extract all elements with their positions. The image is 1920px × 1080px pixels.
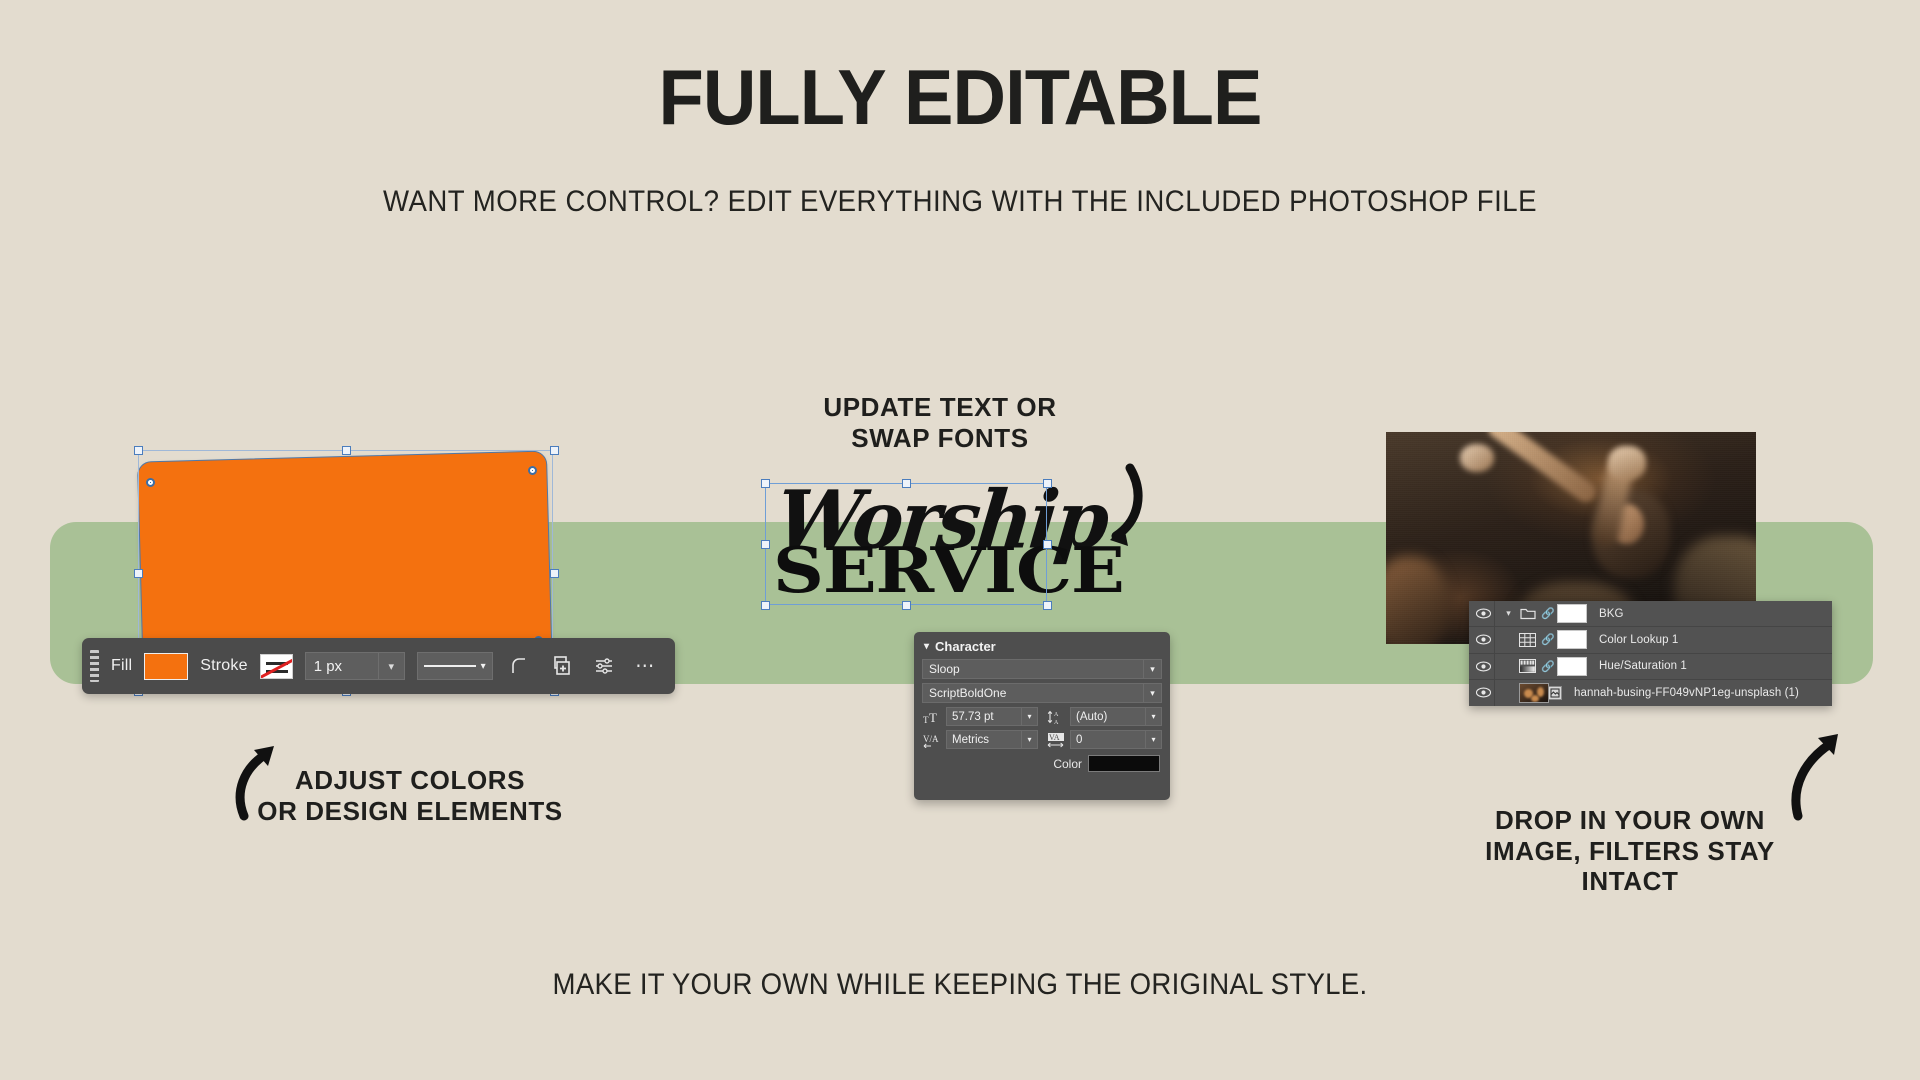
tracking-icon: VA xyxy=(1046,731,1066,749)
font-size-input[interactable]: 57.73 pt ▾ xyxy=(946,707,1038,726)
chevron-down-icon[interactable]: ▾ xyxy=(1145,731,1161,748)
text-artwork-stage: Worship SERVICE xyxy=(765,483,1055,613)
arrow-to-text-artwork xyxy=(1058,462,1148,572)
stroke-color-swatch-none[interactable] xyxy=(260,654,293,679)
callout-update-text-line1: UPDATE TEXT OR xyxy=(760,392,1120,423)
text-resize-handle-bottom-left[interactable] xyxy=(761,601,770,610)
toolbar-drag-handle[interactable] xyxy=(90,650,99,682)
page-subtitle: WANT MORE CONTROL? EDIT EVERYTHING WITH … xyxy=(77,185,1843,219)
svg-text:A: A xyxy=(1054,720,1059,725)
callout-drop-image-line1: DROP IN YOUR OWN xyxy=(1420,805,1840,836)
fill-label: Fill xyxy=(111,657,132,675)
layer-link-icon[interactable]: 🔗 xyxy=(1541,607,1552,620)
arrow-to-photo-image xyxy=(1780,728,1866,824)
solid-line-icon xyxy=(424,665,476,667)
combine-shapes-icon[interactable] xyxy=(547,651,577,681)
stroke-label: Stroke xyxy=(200,657,247,675)
text-resize-handle-top-left[interactable] xyxy=(761,479,770,488)
resize-handle-middle-left[interactable] xyxy=(134,569,143,578)
svg-text:A: A xyxy=(1054,712,1059,718)
kerning-cell: V/A Metrics ▾ xyxy=(922,730,1038,749)
callout-update-text-line2: SWAP FONTS xyxy=(760,423,1120,454)
font-size-icon: T T xyxy=(922,708,942,726)
stroke-width-input[interactable]: 1 px ▾ xyxy=(305,652,405,680)
smart-object-badge-icon xyxy=(1548,686,1562,700)
layer-row-color-lookup[interactable]: 🔗 Color Lookup 1 xyxy=(1469,627,1832,653)
text-resize-handle-top-center[interactable] xyxy=(902,479,911,488)
callout-drop-image-line2: IMAGE, FILTERS STAY xyxy=(1420,836,1840,867)
layer-visibility-eye-icon[interactable] xyxy=(1473,627,1495,652)
character-panel-title: Character xyxy=(935,639,996,654)
character-kerning-tracking-row: V/A Metrics ▾ VA 0 ▾ xyxy=(922,730,1162,749)
resize-handle-middle-right[interactable] xyxy=(550,569,559,578)
layer-name: Hue/Saturation 1 xyxy=(1599,660,1687,672)
kerning-icon: V/A xyxy=(922,731,942,749)
shape-settings-icon[interactable] xyxy=(589,651,619,681)
layer-visibility-eye-icon[interactable] xyxy=(1473,680,1495,706)
layer-row-hue-saturation[interactable]: 🔗 Hue/Saturation 1 xyxy=(1469,654,1832,680)
layer-name: Color Lookup 1 xyxy=(1599,634,1678,646)
svg-text:T: T xyxy=(929,710,937,725)
stroke-style-dropdown[interactable]: ▾ xyxy=(417,652,493,680)
text-resize-handle-bottom-center[interactable] xyxy=(902,601,911,610)
corner-radius-icon[interactable] xyxy=(505,651,535,681)
character-color-row: Color xyxy=(922,755,1162,772)
hue-saturation-icon xyxy=(1519,659,1536,674)
layer-visibility-eye-icon[interactable] xyxy=(1473,654,1495,679)
stroke-width-value: 1 px xyxy=(314,658,342,675)
kerning-value: Metrics xyxy=(952,734,989,746)
shape-properties-toolbar[interactable]: Fill Stroke 1 px ▾ ▾ ⋯ xyxy=(82,638,675,694)
callout-drop-image-line3: INTACT xyxy=(1420,866,1840,897)
chevron-down-icon[interactable]: ▾ xyxy=(481,661,486,672)
page-title: FULLY EDITABLE xyxy=(48,52,1872,143)
text-color-swatch[interactable] xyxy=(1088,755,1160,772)
tracking-cell: VA 0 ▾ xyxy=(1046,730,1162,749)
layer-row-smart-object[interactable]: hannah-busing-FF049vNP1eg-unsplash (1) xyxy=(1469,680,1832,706)
text-selection-bounds xyxy=(765,483,1047,605)
leading-cell: A A (Auto) ▾ xyxy=(1046,707,1162,726)
leading-input[interactable]: (Auto) ▾ xyxy=(1070,707,1162,726)
more-options-icon[interactable]: ⋯ xyxy=(631,651,661,681)
color-label: Color xyxy=(1053,757,1082,771)
group-disclosure-chevron-icon[interactable]: ▾ xyxy=(1503,608,1514,619)
callout-update-text: UPDATE TEXT OR SWAP FONTS xyxy=(760,392,1120,453)
page-footer-text: MAKE IT YOUR OWN WHILE KEEPING THE ORIGI… xyxy=(77,968,1843,1002)
chevron-down-icon[interactable]: ▾ xyxy=(1021,708,1037,725)
fill-color-swatch[interactable] xyxy=(144,653,188,680)
resize-handle-top-left[interactable] xyxy=(134,446,143,455)
chevron-down-icon[interactable]: ▾ xyxy=(378,653,404,679)
svg-text:V/A: V/A xyxy=(923,734,939,744)
arrow-to-orange-shape xyxy=(222,738,302,828)
layer-link-icon[interactable]: 🔗 xyxy=(1541,660,1552,673)
font-family-select[interactable]: Sloop ▾ xyxy=(922,659,1162,679)
text-resize-handle-bottom-right[interactable] xyxy=(1043,601,1052,610)
layer-link-icon[interactable]: 🔗 xyxy=(1541,633,1552,646)
layer-visibility-eye-icon[interactable] xyxy=(1473,601,1495,626)
layer-row-bkg[interactable]: ▾ 🔗 BKG xyxy=(1469,601,1832,627)
resize-handle-top-right[interactable] xyxy=(550,446,559,455)
font-style-value: ScriptBoldOne xyxy=(929,686,1006,700)
leading-value: (Auto) xyxy=(1076,711,1107,723)
chevron-down-icon[interactable]: ▾ xyxy=(1143,684,1161,702)
character-panel[interactable]: ▾ Character Sloop ▾ ScriptBoldOne ▾ T T … xyxy=(914,632,1170,800)
text-resize-handle-top-right[interactable] xyxy=(1043,479,1052,488)
character-panel-header[interactable]: ▾ Character xyxy=(922,638,1162,659)
callout-drop-image: DROP IN YOUR OWN IMAGE, FILTERS STAY INT… xyxy=(1420,805,1840,897)
svg-text:VA: VA xyxy=(1049,733,1060,742)
font-family-value: Sloop xyxy=(929,662,960,676)
resize-handle-top-center[interactable] xyxy=(342,446,351,455)
chevron-down-icon[interactable]: ▾ xyxy=(924,641,929,652)
font-style-select[interactable]: ScriptBoldOne ▾ xyxy=(922,683,1162,703)
layer-name: BKG xyxy=(1599,608,1624,620)
font-size-cell: T T 57.73 pt ▾ xyxy=(922,707,1038,726)
tracking-value: 0 xyxy=(1076,734,1082,746)
chevron-down-icon[interactable]: ▾ xyxy=(1021,731,1037,748)
folder-icon xyxy=(1519,606,1536,621)
tracking-input[interactable]: 0 ▾ xyxy=(1070,730,1162,749)
chevron-down-icon[interactable]: ▾ xyxy=(1145,708,1161,725)
layers-panel[interactable]: ▾ 🔗 BKG 🔗 Color Lookup 1 xyxy=(1469,601,1832,706)
character-size-leading-row: T T 57.73 pt ▾ A A (Auto) ▾ xyxy=(922,707,1162,726)
layer-mask-thumbnail[interactable] xyxy=(1557,604,1587,623)
color-lookup-grid-icon xyxy=(1519,632,1536,647)
layer-mask-thumbnail[interactable] xyxy=(1557,657,1587,676)
text-resize-handle-middle-right[interactable] xyxy=(1043,540,1052,549)
layer-mask-thumbnail[interactable] xyxy=(1557,630,1587,649)
font-size-value: 57.73 pt xyxy=(952,711,994,723)
kerning-input[interactable]: Metrics ▾ xyxy=(946,730,1038,749)
text-resize-handle-middle-left[interactable] xyxy=(761,540,770,549)
layer-name: hannah-busing-FF049vNP1eg-unsplash (1) xyxy=(1574,687,1799,699)
chevron-down-icon[interactable]: ▾ xyxy=(1143,660,1161,678)
layer-image-thumbnail[interactable] xyxy=(1519,683,1549,703)
leading-icon: A A xyxy=(1046,708,1066,726)
